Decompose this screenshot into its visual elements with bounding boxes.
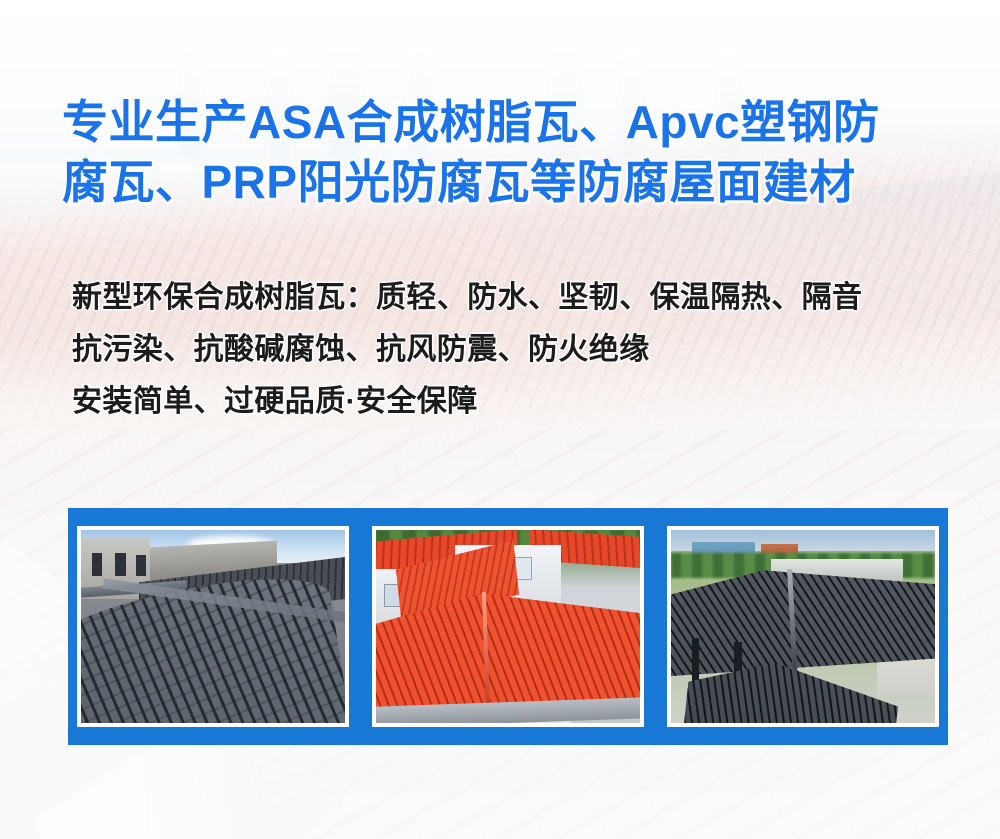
subheadline-line-1: 新型环保合成树脂瓦：质轻、防水、坚韧、保温隔热、隔音 (72, 272, 952, 324)
photo1-window-2 (115, 553, 126, 576)
headline-block: 专业生产ASA合成树脂瓦、Apvc塑钢防 腐瓦、PRP阳光防腐瓦等防腐屋面建材 (62, 92, 952, 212)
headline-line-2: 腐瓦、PRP阳光防腐瓦等防腐屋面建材 (62, 152, 952, 212)
promo-banner: 专业生产ASA合成树脂瓦、Apvc塑钢防 腐瓦、PRP阳光防腐瓦等防腐屋面建材 … (0, 0, 1000, 839)
subheadline-line-2: 抗污染、抗酸碱腐蚀、抗风防震、防火绝缘 (72, 324, 952, 376)
gallery-photo-2[interactable] (372, 526, 644, 727)
gallery-photo-1[interactable] (77, 526, 349, 727)
photo-grey-roof-image (81, 530, 345, 723)
photo1-window-3 (136, 555, 145, 576)
photo-red-roof-image (376, 530, 640, 723)
subheadline-block: 新型环保合成树脂瓦：质轻、防水、坚韧、保温隔热、隔音 抗污染、抗酸碱腐蚀、抗风防… (72, 272, 952, 428)
gallery-photo-3[interactable] (667, 526, 939, 727)
photo1-window-1 (92, 553, 103, 576)
banner-content: 专业生产ASA合成树脂瓦、Apvc塑钢防 腐瓦、PRP阳光防腐瓦等防腐屋面建材 … (0, 0, 1000, 839)
headline-line-1: 专业生产ASA合成树脂瓦、Apvc塑钢防 (62, 92, 952, 152)
subheadline-line-3: 安装简单、过硬品质·安全保障 (72, 376, 952, 428)
photo-gallery-panel (68, 508, 948, 745)
photo-black-roof-image (671, 530, 935, 723)
